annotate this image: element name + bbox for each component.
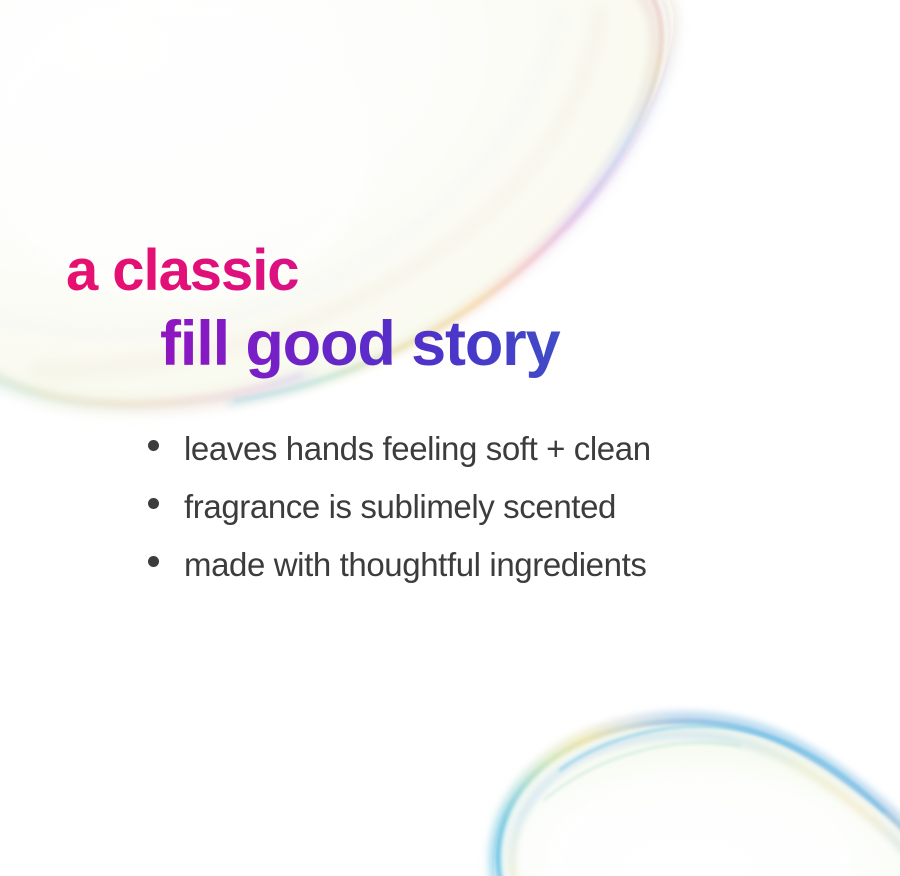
- list-item: leaves hands feeling soft + clean: [148, 427, 651, 485]
- list-item: fragrance is sublimely scented: [148, 485, 651, 543]
- benefits-list: leaves hands feeling soft + clean fragra…: [148, 427, 651, 601]
- headline-line-2: fill good story: [160, 306, 900, 382]
- list-item-label: fragrance is sublimely scented: [184, 485, 616, 529]
- bullet-dot-icon: [148, 440, 159, 451]
- headline: a classic fill good story: [0, 236, 900, 382]
- list-item-label: leaves hands feeling soft + clean: [184, 427, 651, 471]
- headline-line-1: a classic: [66, 236, 900, 306]
- list-item-label: made with thoughtful ingredients: [184, 543, 646, 587]
- bullet-dot-icon: [148, 556, 159, 567]
- soap-bubble-bottom-right: [491, 716, 900, 876]
- bullet-dot-icon: [148, 498, 159, 509]
- poster-canvas: a classic fill good story leaves hands f…: [0, 0, 900, 876]
- list-item: made with thoughtful ingredients: [148, 543, 651, 601]
